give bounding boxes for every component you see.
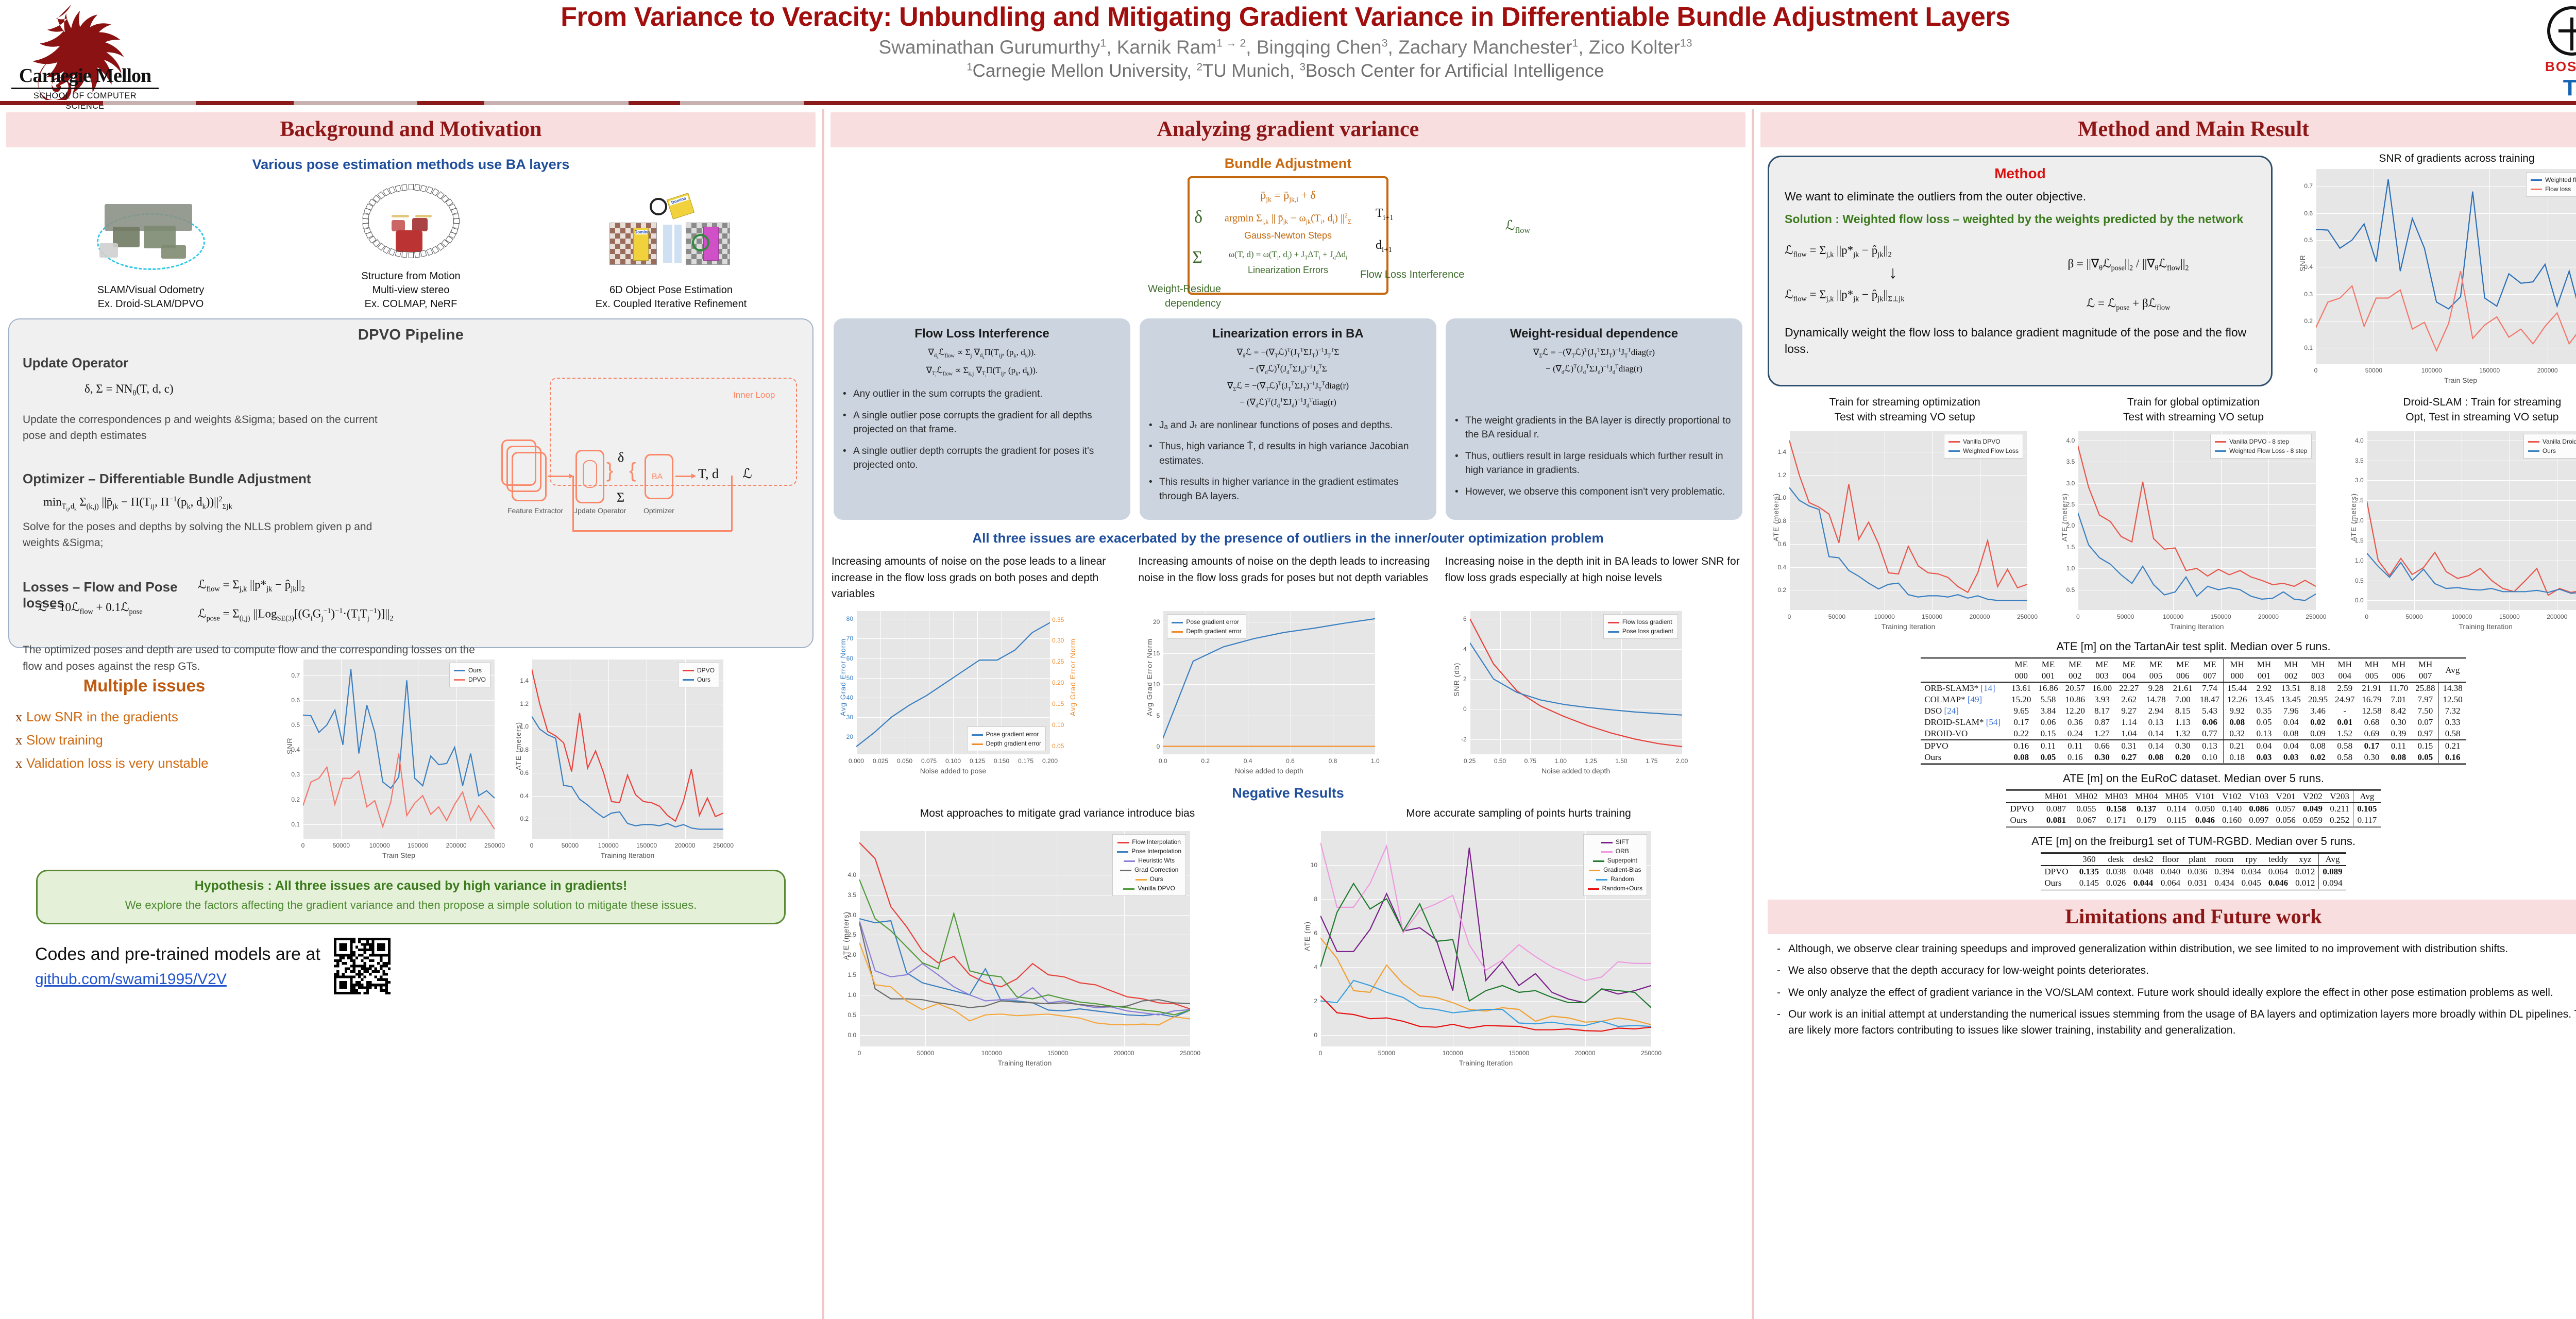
table-cell: 0.09 — [2304, 728, 2331, 740]
analysis-box-2-bullet-0: The weight gradients in the BA layer is … — [1455, 414, 1733, 442]
chart-legend: OursDPVO — [449, 663, 490, 687]
dpvo-pipeline-title: DPVO Pipeline — [9, 319, 812, 344]
table-cell: 0.97 — [2412, 728, 2439, 740]
table-cell: 3.93 — [2089, 694, 2115, 705]
table-euroc: MH01MH02MH03MH04MH05V101V102V103V201V202… — [1754, 789, 2576, 827]
table-cell: 0.21 — [2439, 740, 2466, 752]
analysis-box-2-eq-1: − (∇dℒ)T(JdTΣJd)−1JdTdiag(r) — [1455, 364, 1733, 375]
table-cell: 16.86 — [2035, 682, 2061, 694]
table-cell: 0.11 — [2062, 740, 2089, 752]
table-cell: 0.055 — [2071, 803, 2101, 815]
rc-global: Train for global optimizationTest with s… — [2053, 395, 2333, 633]
table-cell: 7.32 — [2439, 705, 2466, 717]
slam-pointcloud-image — [74, 196, 228, 278]
rc-global-caption: Train for global optimizationTest with s… — [2053, 395, 2333, 427]
table-cell: 0.026 — [2103, 877, 2129, 890]
section-title-limitations: Limitations and Future work — [2065, 905, 2321, 928]
table-cell: 0.35 — [2250, 705, 2277, 717]
table-cell: 5.43 — [2196, 705, 2224, 717]
table-cell: 0.040 — [2157, 866, 2184, 877]
table-cell: 8.42 — [2385, 705, 2412, 717]
rc-streaming-caption: Train for streaming optimizationTest wit… — [1765, 395, 2045, 427]
analysis-box-0-eq-0: ∇dkℒflow ∝ Σj ∇dkΠ(Tij, (pk, dk)). — [843, 347, 1121, 360]
analysis-box-2-eq-0: ∇Σℒ = −(∇Tℒ)T(JTTΣJT)−1JTTdiag(r) — [1455, 347, 1733, 359]
table-cell: 0.038 — [2103, 866, 2129, 877]
table-cell: 9.28 — [2142, 682, 2169, 694]
table-cell: 0.18 — [2224, 752, 2251, 764]
analysis-box-1-bullet-2: This results in higher variance in the g… — [1149, 475, 1427, 503]
table-cell: 9.27 — [2115, 705, 2142, 717]
chart-legend: Flow InterpolationPose InterpolationHeur… — [1112, 834, 1186, 896]
table-cell: 13.45 — [2278, 694, 2304, 705]
table-cell: 0.10 — [2196, 752, 2224, 764]
diagram-loss-label: ℒ — [742, 466, 752, 482]
hypothesis-body: We explore the factors affecting the gra… — [53, 897, 769, 914]
table-cell: 0.114 — [2161, 803, 2191, 815]
header-divider — [0, 101, 2576, 105]
table-cell: 0.04 — [2250, 740, 2277, 752]
sfm-cameras-image — [334, 182, 488, 264]
table-cell: 10.86 — [2062, 694, 2089, 705]
neg-col-bias: Most approaches to mitigate grad varianc… — [835, 807, 1280, 1069]
table-cell: 16.00 — [2089, 682, 2115, 694]
table-cell: 0.58 — [2331, 740, 2358, 752]
chart-noise-pose: 203040506070800.050.100.150.200.250.300.… — [832, 607, 1131, 777]
table-cell: 1.14 — [2115, 717, 2142, 728]
table-cell: 0.034 — [2238, 866, 2265, 877]
table-cell: 12.58 — [2358, 705, 2385, 717]
method-eq-flow-2: ℒflow = Σj,k ||p*jk − p̂jk||Σ⊥jk — [1785, 288, 2001, 304]
limitation-item-0: Although, we observe clear training spee… — [1777, 941, 2576, 957]
chart-snr-issues: 0.10.20.30.40.50.60.70500001000001500002… — [278, 655, 500, 861]
table-caption-tum: ATE [m] on the freiburg1 set of TUM-RGBD… — [1754, 835, 2576, 848]
table-cell: 0.08 — [2008, 752, 2035, 764]
table-cell: 0.17 — [2008, 717, 2035, 728]
table-cell: 18.47 — [2196, 694, 2224, 705]
cmu-rule — [11, 88, 159, 89]
table-cell: 7.96 — [2278, 705, 2304, 717]
section-title-background: Background and Motivation — [280, 117, 542, 141]
table-cell: 0.087 — [2041, 803, 2071, 815]
results-table: MH01MH02MH03MH04MH05V101V102V103V201V202… — [2006, 789, 2380, 827]
table-cell: 21.61 — [2170, 682, 2196, 694]
dpvo-diagram: Inner Loop Feature Extractor Update Oper… — [500, 378, 804, 584]
method-arrow-icon: ↓ — [1785, 263, 2001, 283]
table-cell: 0.036 — [2184, 866, 2211, 877]
table-cell: 0.012 — [2292, 866, 2319, 877]
ba-left-label: Weight-Residue dependency — [1128, 282, 1221, 311]
negative-results-heading: Negative Results — [824, 785, 1752, 801]
table-cell: 0.171 — [2102, 815, 2131, 827]
table-row-label: Ours — [2041, 877, 2075, 890]
table-cell: 0.58 — [2331, 752, 2358, 764]
chart-legend: Weighted flow lossFlow loss — [2526, 172, 2576, 197]
table-cell: 0.252 — [2326, 815, 2353, 827]
thumb-6dpose-caption-1: 6D Object Pose Estimation — [594, 283, 749, 297]
limitation-item-1: We also observe that the depth accuracy … — [1777, 963, 2576, 978]
ba-left-annotation: δ Σ Weight-Residue dependency — [1128, 205, 1221, 311]
thumb-sfm-caption-2: Multi-view stereo — [334, 283, 488, 297]
noise-snr-caption: Increasing noise in the depth init in BA… — [1445, 553, 1744, 607]
table-cell: 0.08 — [2278, 728, 2304, 740]
example-thumbnails: SLAM/Visual Odometry Ex. Droid-SLAM/DPVO… — [0, 182, 822, 311]
tum-logo: TUM — [2563, 75, 2576, 101]
codes-section: Codes and pre-trained models are at gith… — [35, 938, 822, 994]
thumb-slam-caption-2: Ex. Droid-SLAM/DPVO — [74, 297, 228, 311]
chart-legend: Vanilla DPVO - 8 stepWeighted Flow Loss … — [2210, 434, 2312, 459]
section-banner-method: Method and Main Result — [1760, 112, 2576, 147]
table-row-label: Ours — [2006, 815, 2041, 827]
chart-mitigate-bias: 0.00.51.01.52.02.53.03.54.00500001000001… — [835, 827, 1280, 1069]
table-cell: 0.031 — [2184, 877, 2211, 890]
table-cell: 0.05 — [2250, 717, 2277, 728]
negative-results-charts: Most approaches to mitigate grad varianc… — [824, 807, 1752, 1069]
results-table: 360deskdesk2floorplantroomrpyteddyxyzAvg… — [2041, 852, 2346, 890]
table-cell: 0.31 — [2115, 740, 2142, 752]
table-cell: 0.39 — [2385, 728, 2412, 740]
analysis-box-1-eq-1: − (∇dℒ)T(JdTΣJd)−1JdTΣ — [1149, 364, 1427, 375]
table-row-label: DROID-SLAM* [54] — [1921, 717, 2008, 728]
table-cell: 0.044 — [2129, 877, 2157, 890]
chart-noise-depth: 051015200.00.20.40.60.81.0Noise added to… — [1138, 607, 1437, 777]
chart-legend: SIFTORBSuperpointGradient-BiasRandomRand… — [1583, 834, 1647, 896]
analysis-box-2-title: Weight-residual dependence — [1455, 327, 1733, 341]
table-cell: 0.08 — [2385, 752, 2412, 764]
table-cell: 0.08 — [2142, 752, 2169, 764]
table-cell: 0.17 — [2358, 740, 2385, 752]
table-cell: 1.52 — [2331, 728, 2358, 740]
table-cell: 0.30 — [2089, 752, 2115, 764]
table-cell: 14.38 — [2439, 682, 2466, 694]
table-cell: 0.059 — [2299, 815, 2326, 827]
table-cell: 0.135 — [2076, 866, 2103, 877]
limitation-item-3: Our work is an initial attempt at unders… — [1777, 1007, 2576, 1038]
codes-text: Codes and pre-trained models are at — [35, 944, 320, 965]
table-cell: 15.20 — [2008, 694, 2035, 705]
table-cell: 0.14 — [2142, 740, 2169, 752]
noise-experiments: Increasing amounts of noise on the pose … — [824, 553, 1752, 777]
analysis-box-1-bullet-1: Thus, high variance T̄, d results in hig… — [1149, 439, 1427, 468]
table-cell: 8.18 — [2304, 682, 2331, 694]
table-cell: 13.45 — [2250, 694, 2277, 705]
chart-train-streaming: 0.20.40.60.81.01.21.40500001000001500002… — [1765, 427, 2045, 633]
ba-right-label: Flow Loss Interference — [1360, 267, 1473, 282]
table-cell: 0.434 — [2211, 877, 2238, 890]
table-cell: 0.14 — [2142, 728, 2169, 740]
table-cell: 0.30 — [2358, 752, 2385, 764]
table-cell: 0.32 — [2224, 728, 2251, 740]
table-cell: 0.056 — [2273, 815, 2299, 827]
mitigate-bias-caption: Most approaches to mitigate grad varianc… — [835, 807, 1280, 820]
chart-snr-gradients: 0.10.20.30.40.50.60.70500001000001500002… — [2291, 165, 2576, 386]
qr-code-icon[interactable] — [334, 938, 391, 994]
table-cell: 3.46 — [2304, 705, 2331, 717]
table-cell: 0.06 — [2035, 717, 2061, 728]
table-cell: 11.70 — [2385, 682, 2412, 694]
eq-pose-loss: ℒpose = Σ(i,j) ||LogSE(3)[(GiGj−1)−1·(Ti… — [198, 607, 799, 623]
ba-left-symbol-sigma: Σ — [1128, 245, 1202, 270]
analysis-box-1-bullet-0: Jₐ and Jₜ are nonlinear functions of pos… — [1149, 418, 1427, 433]
hypothesis-box: Hypothesis : All three issues are caused… — [36, 870, 786, 924]
chart-legend: Pose gradient errorDepth gradient error — [967, 726, 1046, 751]
limitations-list: Although, we observe clear training spee… — [1777, 941, 2576, 1038]
chart-train-global: 0.51.01.52.02.53.03.54.00500001000001500… — [2053, 427, 2333, 633]
column-method: Method and Main Result Method We want to… — [1754, 109, 2576, 1319]
thumb-slam-caption-1: SLAM/Visual Odometry — [74, 283, 228, 297]
table-cell: 12.50 — [2439, 694, 2466, 705]
analysis-box-0-title: Flow Loss Interference — [843, 327, 1121, 341]
thumb-sfm-caption-3: Ex. COLMAP, NeRF — [334, 297, 488, 311]
thumb-sfm-caption-1: Structure from Motion — [334, 269, 488, 283]
table-cell: 12.26 — [2224, 694, 2251, 705]
table-cell: 2.92 — [2250, 682, 2277, 694]
table-cell: 0.07 — [2412, 717, 2439, 728]
table-cell: 0.58 — [2439, 728, 2466, 740]
analysis-box-1-title: Linearization errors in BA — [1149, 327, 1427, 341]
method-line-1: We want to eliminate the outliers from t… — [1785, 188, 2256, 205]
thumb-6dpose-caption-2: Ex. Coupled Iterative Refinement — [594, 297, 749, 311]
table-cell: 0.11 — [2385, 740, 2412, 752]
chart-snr-depth: -202460.250.500.751.001.251.501.752.00No… — [1445, 607, 1744, 777]
table-tum-rgbd: 360deskdesk2floorplantroomrpyteddyxyzAvg… — [1754, 852, 2576, 890]
table-cell: 0.13 — [2142, 717, 2169, 728]
table-cell: 22.27 — [2115, 682, 2142, 694]
table-cell: 2.94 — [2142, 705, 2169, 717]
thumb-slam: SLAM/Visual Odometry Ex. Droid-SLAM/DPVO — [74, 196, 228, 311]
table-cell: 20.57 — [2062, 682, 2089, 694]
diagram-delta-label: δ — [618, 450, 624, 465]
table-cell: 0.08 — [2304, 740, 2331, 752]
table-cell: 0.05 — [2412, 752, 2439, 764]
table-cell: 14.78 — [2142, 694, 2169, 705]
title-block: From Variance to Veracity: Unbundling an… — [170, 3, 2401, 81]
analysis-box-weight-residual: Weight-residual dependence ∇Σℒ = −(∇Tℒ)T… — [1446, 318, 1742, 520]
table-row-label: Ours — [1921, 752, 2008, 764]
table-cell: 0.36 — [2062, 717, 2089, 728]
snr-gradients-panel: SNR of gradients across training 0.10.20… — [2286, 147, 2576, 386]
diagram-output-label: T, d — [698, 466, 719, 482]
table-cell: 24.97 — [2331, 694, 2358, 705]
chart-droid-slam-train: 0.00.51.01.52.02.53.03.54.00500001000001… — [2342, 427, 2576, 633]
table-cell: 0.117 — [2353, 815, 2381, 827]
table-cell: 25.88 — [2412, 682, 2439, 694]
sponsor-logos: BOSCH TUM — [2407, 4, 2576, 101]
rc-streaming: Train for streaming optimizationTest wit… — [1765, 395, 2045, 633]
table-cell: 13.51 — [2278, 682, 2304, 694]
affiliation-list: 1Carnegie Mellon University, 2TU Munich,… — [170, 61, 2401, 81]
table-cell: 0.33 — [2439, 717, 2466, 728]
table-cell: 0.30 — [2385, 717, 2412, 728]
table-cell: 8.17 — [2089, 705, 2115, 717]
table-cell: 0.20 — [2170, 752, 2196, 764]
section-banner-limitations: Limitations and Future work — [1768, 900, 2576, 934]
table-cell: 0.13 — [2250, 728, 2277, 740]
table-cell: 9.65 — [2008, 705, 2035, 717]
table-cell: 8.15 — [2170, 705, 2196, 717]
table-cell: 0.179 — [2131, 815, 2161, 827]
table-cell: 13.61 — [2008, 682, 2035, 694]
column-analysis: Analyzing gradient variance Bundle Adjus… — [822, 109, 1754, 1319]
chart-legend: Flow loss gradientPose loss gradient — [1603, 614, 1678, 639]
table-cell: 0.30 — [2170, 740, 2196, 752]
table-cell: 7.97 — [2412, 694, 2439, 705]
table-cell: 0.094 — [2319, 877, 2346, 890]
method-title: Method — [1785, 165, 2256, 182]
results-table: MEMEMEMEMEMEMEMEMHMHMHMHMHMHMHMHAvg00000… — [1921, 657, 2466, 765]
table-caption-euroc: ATE [m] on the EuRoC dataset. Median ove… — [1754, 772, 2576, 785]
diagram-feature-extractor-label: Feature Extractor — [507, 506, 563, 515]
issue-item-1: xSlow training — [15, 732, 278, 748]
table-cell: 0.01 — [2331, 717, 2358, 728]
analysis-box-1-eq-3: − (∇dℒ)T(JdTΣJd)−1JdTdiag(r) — [1149, 397, 1427, 409]
ba-right-symbol-T: Ti+1 — [1376, 205, 1473, 224]
bosch-logo: BOSCH — [2526, 6, 2576, 75]
chart-sampling-hurts: 0246810050000100000150000200000250000Tra… — [1296, 827, 1741, 1069]
table-cell: 0.06 — [2196, 717, 2224, 728]
snr-gradients-title: SNR of gradients across training — [2291, 153, 2576, 165]
ba-eq-1: p̄jk = p̄jk,i + δ — [1190, 189, 1386, 204]
table-cell: 0.140 — [2218, 803, 2245, 815]
method-line-2: Solution : Weighted flow loss – weighted… — [1785, 211, 2256, 227]
analysis-box-1-eq-2: ∇Σℒ = −(∇Tℒ)T(JTTΣJT)−1JTTdiag(r) — [1149, 381, 1427, 392]
analysis-box-flow-loss: Flow Loss Interference ∇dkℒflow ∝ Σj ∇dk… — [834, 318, 1130, 520]
table-cell: 0.87 — [2089, 717, 2115, 728]
section-title-method: Method and Main Result — [2078, 117, 2309, 141]
ba-right-symbol-d: di+1 — [1376, 237, 1473, 256]
table-cell: 0.02 — [2304, 752, 2331, 764]
issue-item-2: xValidation loss is very unstable — [15, 755, 278, 771]
thumb-sfm: Structure from Motion Multi-view stereo … — [334, 182, 488, 311]
table-cell: 0.02 — [2304, 717, 2331, 728]
table-cell: 7.00 — [2170, 694, 2196, 705]
bosch-mark-icon — [2547, 6, 2576, 56]
rc-droid-caption: Droid-SLAM : Train for streamingOpt, Tes… — [2342, 395, 2576, 427]
diagram-sigma-label: Σ — [617, 490, 624, 505]
table-cell: 1.27 — [2089, 728, 2115, 740]
table-cell: 2.62 — [2115, 694, 2142, 705]
ba-diagram-title: Bundle Adjustment — [824, 156, 1752, 172]
table-cell: 3.84 — [2035, 705, 2061, 717]
table-cell: 0.08 — [2224, 717, 2251, 728]
issue-item-0: xLow SNR in the gradients — [15, 709, 278, 725]
table-cell: 0.03 — [2278, 752, 2304, 764]
table-cell: 7.74 — [2196, 682, 2224, 694]
table-cell: 0.77 — [2196, 728, 2224, 740]
object-pose-image: Domino Domino — [594, 196, 749, 278]
table-cell: 1.13 — [2170, 717, 2196, 728]
table-row-label: DPVO — [1921, 740, 2008, 752]
analysis-box-0-bullet-1: A single outlier pose corrupts the gradi… — [843, 409, 1121, 437]
noise-col-pose: Increasing amounts of noise on the pose … — [832, 553, 1131, 777]
table-row-label: COLMAP* [49] — [1921, 694, 2008, 705]
table-cell: 12.20 — [2062, 705, 2089, 717]
noise-col-snr: Increasing noise in the depth init in BA… — [1445, 553, 1744, 777]
table-row-label: DPVO — [2041, 866, 2075, 877]
table-cell: 0.16 — [2062, 752, 2089, 764]
table-cell: 0.145 — [2076, 877, 2103, 890]
table-cell: 0.15 — [2035, 728, 2061, 740]
table-cell: 0.057 — [2273, 803, 2299, 815]
table-row-label: DSO [24] — [1921, 705, 2008, 717]
table-cell: 0.067 — [2071, 815, 2101, 827]
method-eq-beta: β = ||∇θℒpose||2 / ||∇θℒflow||2 — [2001, 257, 2256, 273]
analysis-box-0-bullet-2: A single outlier depth corrupts the grad… — [843, 444, 1121, 472]
method-card: Method We want to eliminate the outliers… — [1768, 156, 2273, 386]
table-cell: 0.22 — [2008, 728, 2035, 740]
table-cell: 0.68 — [2358, 717, 2385, 728]
table-cell: 0.13 — [2196, 740, 2224, 752]
dpvo-pipeline-card: DPVO Pipeline Update Operator δ, Σ = NNθ… — [8, 318, 814, 648]
table-cell: 0.046 — [2192, 815, 2218, 827]
table-cell: 21.91 — [2358, 682, 2385, 694]
section-banner-analysis: Analyzing gradient variance — [831, 112, 1745, 147]
table-cell: 0.050 — [2192, 803, 2218, 815]
author-list: Swaminathan Gurumurthy1, Karnik Ram1 → 2… — [170, 37, 2401, 59]
table-cell: 1.32 — [2170, 728, 2196, 740]
chart-legend: Pose gradient errorDepth gradient error — [1167, 614, 1246, 639]
table-caption-tartanair: ATE [m] on the TartanAir test split. Med… — [1754, 640, 2576, 653]
table-cell: 0.16 — [2439, 752, 2466, 764]
table-cell: 0.097 — [2245, 815, 2272, 827]
table-cell: 2.59 — [2331, 682, 2358, 694]
table-cell: - — [2331, 705, 2358, 717]
update-operator-text: Update the correspondences p and weights… — [23, 412, 383, 444]
ba-right-annotation: Ti+1 di+1 Flow Loss Interference — [1360, 205, 1473, 282]
method-line-3: Dynamically weight the flow loss to bala… — [1785, 324, 2256, 357]
neg-col-sampling: More accurate sampling of points hurts t… — [1296, 807, 1741, 1069]
outliers-heading: All three issues are exacerbated by the … — [824, 530, 1752, 546]
repo-link[interactable]: github.com/swami1995/V2V — [35, 971, 320, 988]
table-cell: 0.11 — [2035, 740, 2061, 752]
table-cell: 0.05 — [2035, 752, 2061, 764]
table-tartanair: MEMEMEMEMEMEMEMEMHMHMHMHMHMHMHMHAvg00000… — [1754, 657, 2576, 765]
limitation-item-2: We only analyze the effect of gradient v… — [1777, 985, 2576, 1001]
table-cell: 1.04 — [2115, 728, 2142, 740]
section-banner-background: Background and Motivation — [6, 112, 816, 147]
table-cell: 0.081 — [2041, 815, 2071, 827]
table-cell: 0.160 — [2218, 815, 2245, 827]
diagram-update-operator-label: Update Operator — [572, 506, 626, 515]
ba-flow-loss-symbol: ℒflow — [1505, 216, 1530, 237]
table-cell: 15.44 — [2224, 682, 2251, 694]
table-cell: 0.045 — [2238, 877, 2265, 890]
table-cell: 0.049 — [2299, 803, 2326, 815]
chart-legend: DPVOOurs — [678, 663, 719, 687]
table-row-label: DPVO — [2006, 803, 2041, 815]
table-cell: 0.046 — [2265, 877, 2292, 890]
analysis-boxes: Flow Loss Interference ∇dkℒflow ∝ Σj ∇dk… — [834, 318, 1742, 520]
table-cell: 0.115 — [2161, 815, 2191, 827]
rc-droid: Droid-SLAM : Train for streamingOpt, Tes… — [2342, 395, 2576, 633]
table-cell: 0.16 — [2008, 740, 2035, 752]
table-cell: 0.089 — [2319, 866, 2346, 877]
hypothesis-heading: Hypothesis : All three issues are caused… — [53, 878, 769, 893]
chart-legend: Vanilla DPVOWeighted Flow Loss — [1944, 434, 2023, 459]
update-operator-heading: Update Operator — [23, 355, 799, 371]
table-cell: 0.158 — [2102, 803, 2131, 815]
noise-pose-caption: Increasing amounts of noise on the pose … — [832, 553, 1131, 607]
table-cell: 0.064 — [2157, 877, 2184, 890]
table-cell: 0.04 — [2278, 740, 2304, 752]
chart-legend: Vanilla Droid-SLAMOurs — [2523, 434, 2576, 459]
training-charts: Train for streaming optimizationTest wit… — [1765, 395, 2576, 633]
table-cell: 7.01 — [2385, 694, 2412, 705]
poster-header: Carnegie Mellon SCHOOL OF COMPUTER SCIEN… — [0, 0, 2576, 103]
page-title: From Variance to Veracity: Unbundling an… — [170, 3, 2401, 31]
analysis-box-2-bullet-1: Thus, outliers result in large residuals… — [1455, 449, 1733, 478]
table-cell: 0.086 — [2245, 803, 2272, 815]
poster-root: Carnegie Mellon SCHOOL OF COMPUTER SCIEN… — [0, 0, 2576, 1319]
